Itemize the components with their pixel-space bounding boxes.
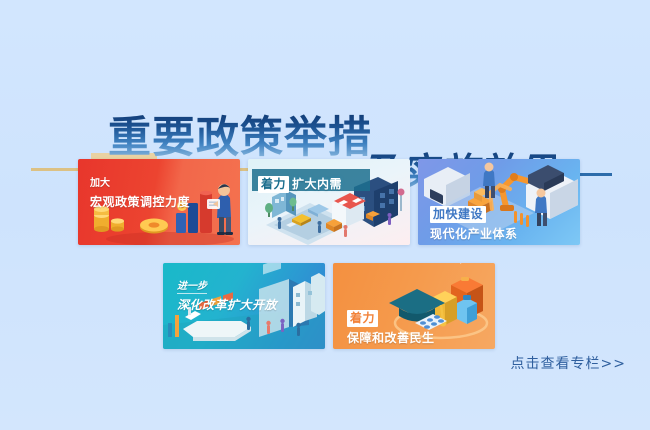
card-2-label: 着力扩大内需 — [258, 173, 342, 193]
card-3-label-top: 加快建设 — [430, 206, 486, 223]
card-4-label-main: 深化改革扩大开放 — [177, 298, 277, 313]
card-5-label: 着力 保障和改善民生 — [347, 307, 435, 348]
banner-root: 重要政策举措 及实施效果 — [0, 0, 650, 430]
policy-card-safeguard-improve-livelihood[interactable]: 着力 保障和改善民生 — [333, 263, 495, 349]
card-1-label-top: 加大 — [90, 178, 110, 189]
card-2-label-main: 扩大内需 — [292, 177, 342, 191]
card-4-label-top: 进一步 — [177, 281, 207, 294]
card-1-label-main: 宏观政策调控力度 — [90, 195, 190, 209]
card-2-label-top: 着力 — [258, 176, 289, 193]
coin-ring-icon — [140, 219, 168, 234]
card-1-label: 加大 宏观政策调控力度 — [90, 171, 190, 212]
card-4-label: 进一步 深化改革扩大开放 — [177, 274, 277, 315]
card-5-label-top: 着力 — [347, 310, 378, 327]
policy-card-deepen-reform-opening-up[interactable]: 进一步 深化改革扩大开放 — [163, 263, 325, 349]
policy-card-macro-policy-regulation[interactable]: 加大 宏观政策调控力度 — [78, 159, 240, 245]
title-block: 重要政策举措 及实施效果 — [0, 52, 650, 157]
cnc-machine-right — [526, 159, 578, 219]
card-3-label: 加快建设 现代化产业体系 — [430, 203, 518, 244]
street-lamp — [398, 189, 405, 212]
view-column-link[interactable]: 点击查看专栏>> — [511, 353, 626, 373]
page-title-line-1: 重要政策举措 — [108, 114, 372, 162]
policy-card-modern-industrial-system[interactable]: 加快建设 现代化产业体系 — [418, 159, 580, 245]
card-5-label-main: 保障和改善民生 — [347, 331, 435, 346]
card-3-label-main: 现代化产业体系 — [430, 227, 518, 242]
policy-card-expand-domestic-demand[interactable]: 着力扩大内需 — [248, 159, 410, 245]
